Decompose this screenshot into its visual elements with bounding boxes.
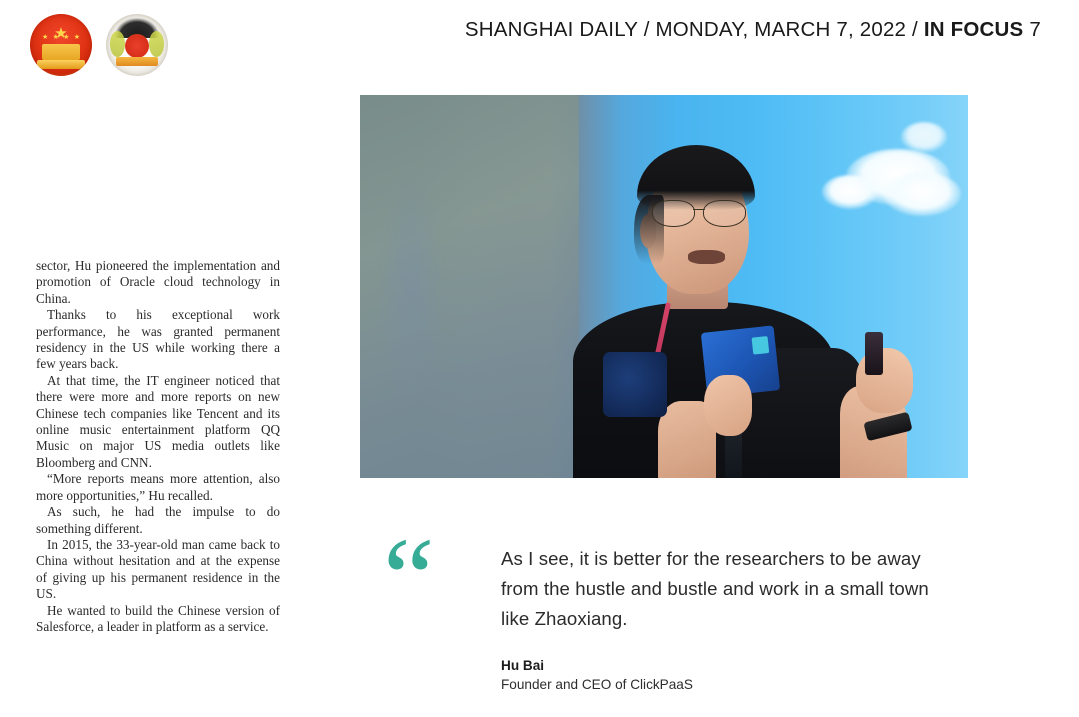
cloud-shape [901, 122, 947, 152]
microphone-flag-logo [751, 336, 769, 355]
pull-quote-attribution: Hu Bai Founder and CEO of ClickPaaS [501, 656, 931, 695]
article-column: sector, Hu pioneered the implementation … [36, 258, 280, 635]
quote-mark-icon: “ [383, 536, 459, 602]
speaker-hand-left [704, 375, 753, 436]
cppcc-wing-right [149, 31, 164, 57]
masthead-page-number: 7 [1029, 18, 1041, 41]
emblem-stars-small: ★★★★ [42, 33, 80, 41]
emblem-gate [42, 44, 79, 60]
masthead-separator-2: / [906, 18, 924, 41]
cppcc-bar [116, 57, 158, 66]
attribution-name: Hu Bai [501, 656, 931, 675]
masthead-separator-1: / [638, 18, 656, 41]
cppcc-wing-left [110, 31, 125, 57]
emblem-group: ★ ★★★★ [30, 14, 168, 76]
article-paragraph: “More reports means more attention, also… [36, 471, 280, 504]
article-paragraph: As such, he had the impulse to do someth… [36, 504, 280, 537]
article-paragraph: Thanks to his exceptional work performan… [36, 307, 280, 373]
pull-quote-text: As I see, it is better for the researche… [501, 544, 931, 634]
masthead-publication: SHANGHAI DAILY [465, 18, 638, 41]
article-paragraph: At that time, the IT engineer noticed th… [36, 373, 280, 471]
article-paragraph: He wanted to build the Chinese version o… [36, 603, 280, 636]
cloud-shape [883, 172, 961, 216]
china-national-emblem-icon: ★ ★★★★ [30, 14, 92, 76]
article-paragraph: sector, Hu pioneered the implementation … [36, 258, 280, 307]
speaker-mouth [688, 250, 724, 264]
article-photo [360, 95, 968, 478]
glasses-lens-right [703, 200, 746, 227]
speaker-figure [567, 95, 871, 478]
pull-quote-body: As I see, it is better for the researche… [501, 544, 931, 695]
masthead-date: MONDAY, MARCH 7, 2022 [655, 18, 906, 41]
attribution-role: Founder and CEO of ClickPaaS [501, 675, 931, 695]
masthead-headline: SHANGHAI DAILY / MONDAY, MARCH 7, 2022 /… [465, 18, 1041, 42]
emblem-base [37, 60, 84, 69]
event-badge [603, 352, 667, 417]
article-paragraph: In 2015, the 33-year-old man came back t… [36, 537, 280, 603]
masthead: ★ ★★★★ SHANGHAI DAILY / MONDAY, MARCH 7,… [0, 0, 1079, 96]
cppcc-center [125, 34, 149, 58]
masthead-section: IN FOCUS [924, 18, 1024, 41]
presentation-clicker [865, 332, 883, 374]
glasses-lens-left [652, 200, 695, 227]
photo-background-backdrop [360, 95, 579, 478]
cppcc-emblem-icon [106, 14, 168, 76]
glasses-icon [652, 200, 746, 225]
pull-quote: “ As I see, it is better for the researc… [383, 536, 943, 686]
